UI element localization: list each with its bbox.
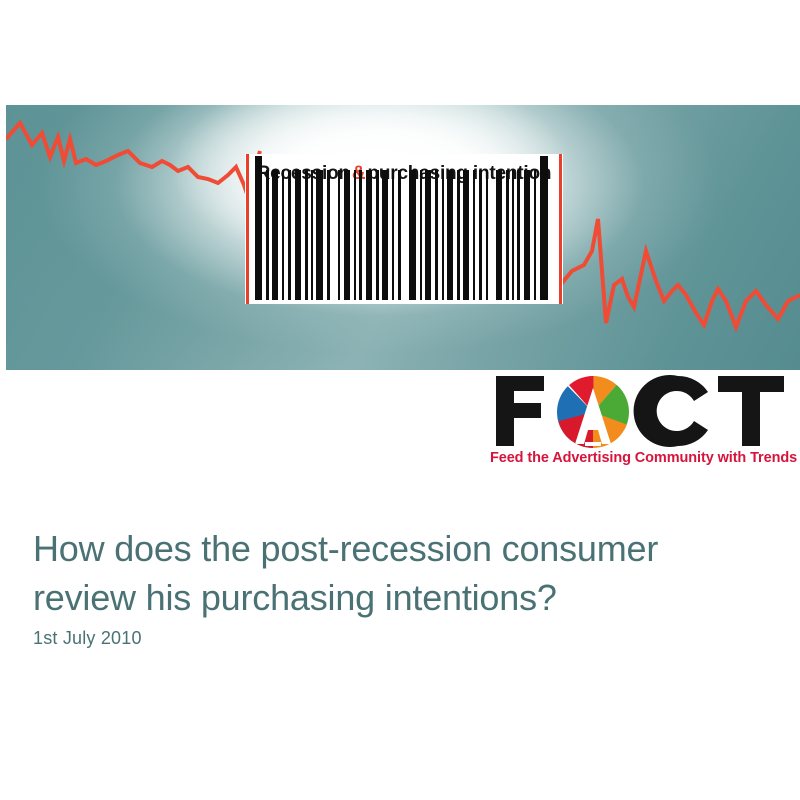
fact-wordmark [490,372,790,450]
barcode-bar [425,170,431,300]
barcode-bar [311,170,313,300]
barcode-bar [359,170,362,300]
page-date: 1st July 2010 [33,628,142,649]
barcode-bar [344,170,350,300]
page-title-line-1: How does the post-recession consumer [33,528,658,569]
barcode-bar [376,170,379,300]
barcode-bars [255,170,553,300]
barcode-bar [506,170,509,300]
barcode-bar [382,170,388,300]
barcode-bar [479,170,482,300]
barcode-bar [447,170,453,300]
barcode-bar [420,170,422,300]
barcode-bar [398,170,401,300]
barcode-bar [272,170,278,300]
barcode-bar [255,156,262,300]
barcode-bar [282,170,284,300]
trendline-right-path [554,219,800,327]
barcode-bar [496,170,502,300]
barcode-bar [435,170,438,300]
trendline-left-path [6,123,260,203]
barcode-bar [338,170,340,300]
barcode-bar [266,170,269,300]
page-title-line-2: review his purchasing intentions? [33,577,557,618]
barcode-bar [442,170,444,300]
barcode-bar [327,170,330,300]
barcode-bar [517,170,520,300]
barcode-bar [316,170,323,300]
recession-banner: Recession & purchasing intention [6,105,800,370]
barcode-bar [392,170,394,300]
barcode-bar [524,170,530,300]
barcode-bar [305,170,308,300]
barcode-bar [473,170,475,300]
barcode-graphic: Recession & purchasing intention [245,154,563,304]
logo-letter-a-disc [548,372,636,450]
barcode-bar [512,170,514,300]
barcode-bar [409,170,416,300]
logo-letter-t [718,376,784,446]
barcode-bar [457,170,460,300]
barcode-bar [366,170,372,300]
barcode-bar [295,170,301,300]
logo-tagline: Feed the Advertising Community with Tren… [490,450,790,466]
barcode-bar [354,170,356,300]
logo-letter-c [634,375,708,447]
barcode-bar [534,170,536,300]
barcode-bar [540,156,548,300]
logo-letter-f [496,376,544,446]
fact-logo: Feed the Advertising Community with Tren… [490,372,790,476]
barcode-bar [463,170,469,300]
barcode-bar [486,170,488,300]
barcode-bar [288,170,291,300]
page-title: How does the post-recession consumer rev… [33,524,763,622]
